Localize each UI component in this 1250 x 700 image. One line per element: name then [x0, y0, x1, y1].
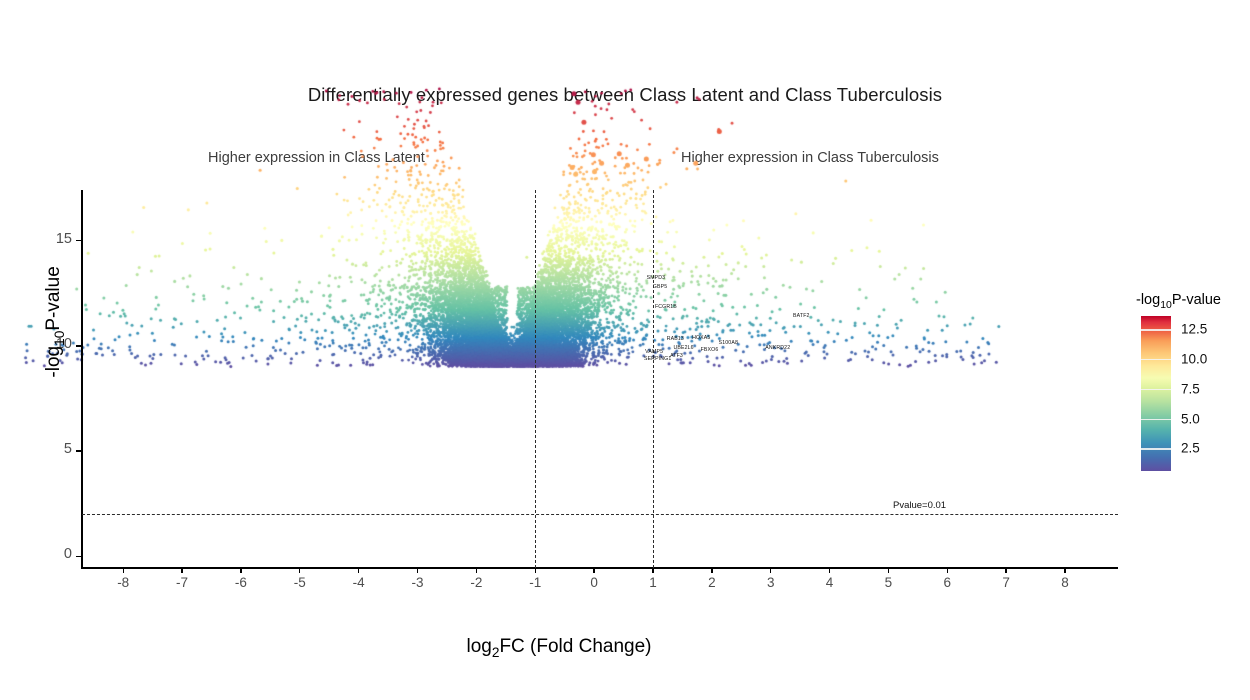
x-tick-mark: [1005, 568, 1006, 573]
gene-label: RAB13: [667, 336, 684, 342]
colorbar-tick-mark: [1141, 448, 1171, 449]
x-tick-mark: [711, 568, 712, 573]
gene-label: S100A8: [719, 340, 738, 346]
gene-label: BATF2: [793, 313, 810, 319]
colorbar-title-post: P-value: [1172, 292, 1221, 308]
x-tick-mark: [417, 568, 418, 573]
x-tick-mark: [947, 568, 948, 573]
colorbar-title-pre: -log: [1136, 292, 1160, 308]
x-tick-label: 6: [927, 575, 967, 590]
gene-label: GBP5: [653, 284, 667, 290]
y-tick-mark: [76, 240, 81, 241]
x-tick-label: 0: [574, 575, 614, 590]
x-tick-label: 7: [986, 575, 1026, 590]
x-tick-label: -2: [456, 575, 496, 590]
x-tick-mark: [358, 568, 359, 573]
gene-label: FBXO6: [701, 347, 719, 353]
colorbar-title: -log10P-value: [1136, 292, 1221, 311]
colorbar-tick-mark: [1141, 359, 1171, 360]
colorbar-tick-mark: [1141, 389, 1171, 390]
y-tick-mark: [76, 450, 81, 451]
x-tick-mark: [829, 568, 830, 573]
colorbar-tick-label: 12.5: [1181, 322, 1207, 337]
gene-label: SMPD3: [647, 275, 666, 281]
x-tick-label: 1: [633, 575, 673, 590]
volcano-plot-figure: Differentially expressed genes between C…: [0, 0, 1250, 700]
x-tick-label: -3: [398, 575, 438, 590]
x-tick-label: -7: [162, 575, 202, 590]
y-axis-title-post: P-value: [43, 266, 64, 330]
colorbar-tick-mark: [1141, 419, 1171, 420]
y-axis-title-pre: -log: [43, 346, 64, 378]
fold-change-threshold-line: [653, 190, 654, 568]
x-tick-label: -5: [280, 575, 320, 590]
x-tick-label: -8: [103, 575, 143, 590]
y-tick-mark: [76, 556, 81, 557]
y-tick-label: 5: [32, 441, 72, 457]
x-tick-mark: [535, 568, 536, 573]
gene-label: ANKRD22: [765, 345, 790, 351]
x-axis-line: [82, 567, 1118, 569]
plot-panel: SMPD3GBP5FCGR1BBATF2RAB13HOXA5S100A8ANKR…: [82, 190, 1118, 568]
x-tick-mark: [888, 568, 889, 573]
x-tick-mark: [240, 568, 241, 573]
x-axis-title-pre: log: [466, 636, 491, 657]
x-tick-mark: [299, 568, 300, 573]
x-tick-mark: [652, 568, 653, 573]
gene-label: VAMP5: [645, 349, 663, 355]
gene-label: HOXA5: [692, 335, 710, 341]
x-tick-label: 4: [810, 575, 850, 590]
x-tick-mark: [123, 568, 124, 573]
pvalue-threshold-line: [82, 514, 1118, 515]
x-axis-title-post: FC (Fold Change): [499, 636, 651, 657]
fold-change-threshold-line: [535, 190, 536, 568]
colorbar-tick-mark: [1141, 329, 1171, 330]
x-tick-label: -4: [339, 575, 379, 590]
y-axis-title-sub: 10: [52, 331, 67, 346]
x-tick-mark: [1064, 568, 1065, 573]
y-axis-line: [81, 190, 83, 569]
x-tick-label: 3: [751, 575, 791, 590]
y-tick-mark: [76, 345, 81, 346]
gene-label: SERPING1: [644, 356, 671, 362]
x-tick-mark: [593, 568, 594, 573]
x-tick-label: -6: [221, 575, 261, 590]
x-tick-mark: [181, 568, 182, 573]
x-tick-label: 2: [692, 575, 732, 590]
x-tick-label: -1: [515, 575, 555, 590]
x-tick-label: 8: [1045, 575, 1085, 590]
colorbar-tick-label: 5.0: [1181, 411, 1200, 426]
colorbar-tick-label: 2.5: [1181, 441, 1200, 456]
colorbar-title-sub: 10: [1160, 300, 1172, 311]
colorbar-tick-label: 10.0: [1181, 351, 1207, 366]
gene-label: ATF3: [670, 353, 683, 359]
gene-label: FCGR1B: [655, 304, 677, 310]
pvalue-threshold-label: Pvalue=0.01: [893, 500, 946, 511]
x-axis-title: log2FC (Fold Change): [0, 636, 1118, 660]
x-tick-mark: [770, 568, 771, 573]
gene-label: UBE2L6: [673, 345, 693, 351]
y-tick-label: 0: [32, 546, 72, 562]
x-tick-mark: [476, 568, 477, 573]
y-axis-title: -log10P-value: [43, 212, 67, 432]
x-tick-label: 5: [868, 575, 908, 590]
colorbar-tick-label: 7.5: [1181, 381, 1200, 396]
